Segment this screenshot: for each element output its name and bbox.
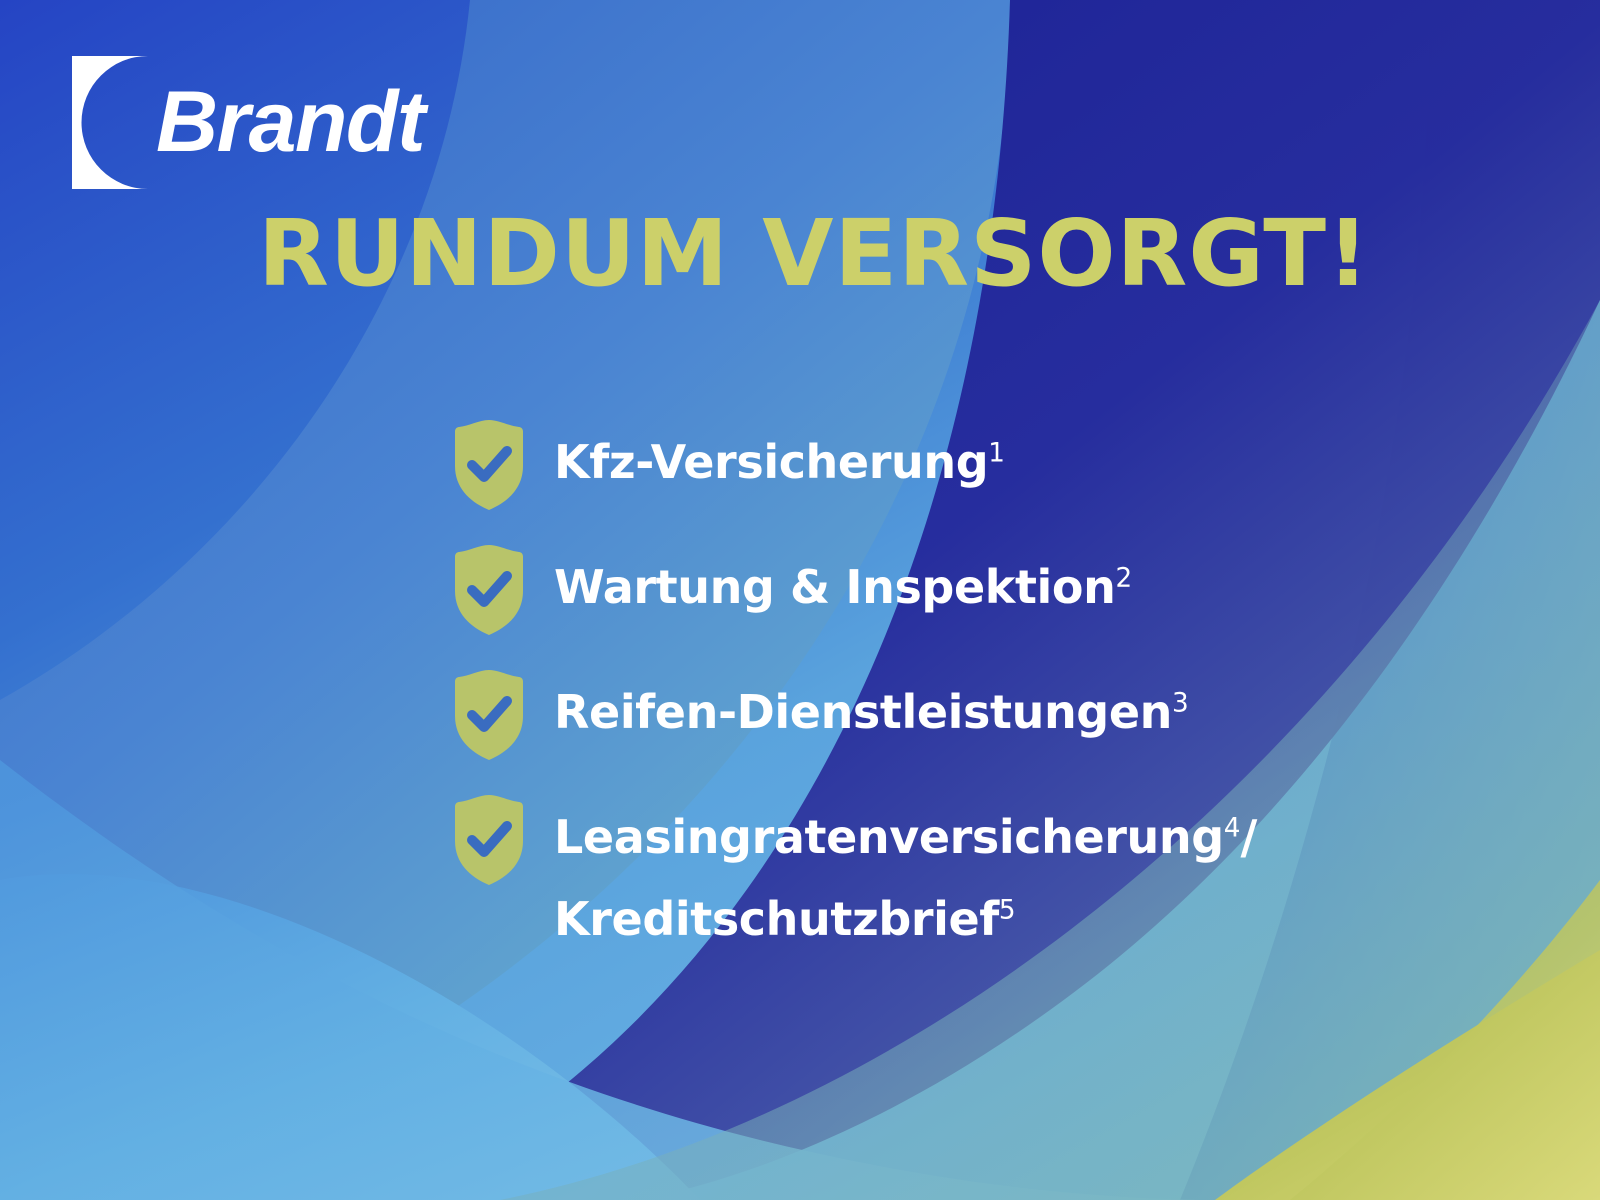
page-title: RUNDUM VERSORGT!: [258, 207, 1370, 301]
logo-bracket-arc-icon: [72, 56, 148, 189]
shield-check-icon: [452, 418, 526, 512]
footnote-marker: 1: [988, 439, 1005, 469]
list-item-label: Wartung & Inspektion: [554, 560, 1115, 614]
list-item-text: Leasingratenversicherung4/ Kreditschutzb…: [554, 793, 1257, 955]
list-item-label-line2: Kreditschutzbrief5: [554, 883, 1257, 955]
shield-check-icon: [452, 543, 526, 637]
shield-check-icon: [452, 668, 526, 762]
slide-root: Brandt RUNDUM VERSORGT! Kfz-Versicherung…: [0, 0, 1600, 1200]
footnote-marker: 2: [1115, 564, 1132, 594]
list-item: Kfz-Versicherung1: [452, 418, 1452, 512]
list-item: Leasingratenversicherung4/ Kreditschutzb…: [452, 793, 1452, 955]
list-item-label: Kfz-Versicherung: [554, 435, 988, 489]
label-separator: /: [1240, 810, 1256, 864]
shield-check-icon: [452, 793, 526, 887]
brand-logo: Brandt: [72, 52, 424, 192]
footnote-marker: 3: [1172, 689, 1189, 719]
brand-name: Brandt: [156, 79, 424, 165]
list-item-label: Leasingratenversicherung: [554, 810, 1224, 864]
list-item: Reifen-Dienstleistungen3: [452, 668, 1452, 762]
list-item-text: Kfz-Versicherung1: [554, 418, 1005, 498]
list-item-label: Reifen-Dienstleistungen: [554, 685, 1172, 739]
list-item-text: Reifen-Dienstleistungen3: [554, 668, 1189, 748]
feature-list: Kfz-Versicherung1 Wartung & Inspektion2 …: [452, 418, 1452, 955]
footnote-marker: 4: [1224, 814, 1241, 844]
list-item: Wartung & Inspektion2: [452, 543, 1452, 637]
list-item-text: Wartung & Inspektion2: [554, 543, 1132, 623]
footnote-marker: 5: [999, 896, 1016, 926]
list-item-label-secondary: Kreditschutzbrief: [554, 892, 999, 946]
